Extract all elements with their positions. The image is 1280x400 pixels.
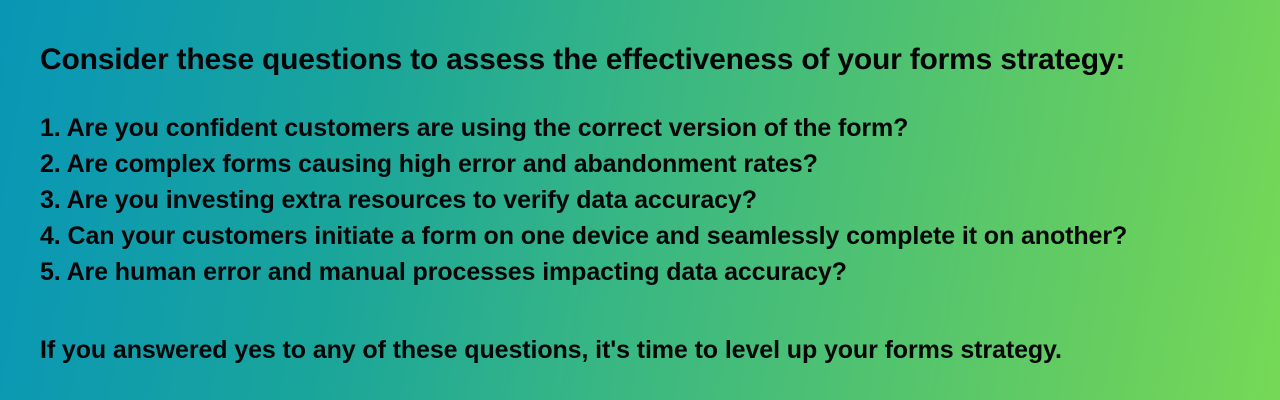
slide-content: Consider these questions to assess the e…	[40, 40, 1250, 368]
list-item: 5. Are human error and manual processes …	[40, 254, 1250, 290]
page-title: Consider these questions to assess the e…	[40, 40, 1250, 80]
list-item: 3. Are you investing extra resources to …	[40, 182, 1250, 218]
list-item: 2. Are complex forms causing high error …	[40, 146, 1250, 182]
closing-statement: If you answered yes to any of these ques…	[40, 332, 1250, 368]
slide-canvas: Consider these questions to assess the e…	[0, 0, 1280, 400]
list-item: 1. Are you confident customers are using…	[40, 110, 1250, 146]
list-item: 4. Can your customers initiate a form on…	[40, 218, 1250, 254]
question-list: 1. Are you confident customers are using…	[40, 110, 1250, 290]
